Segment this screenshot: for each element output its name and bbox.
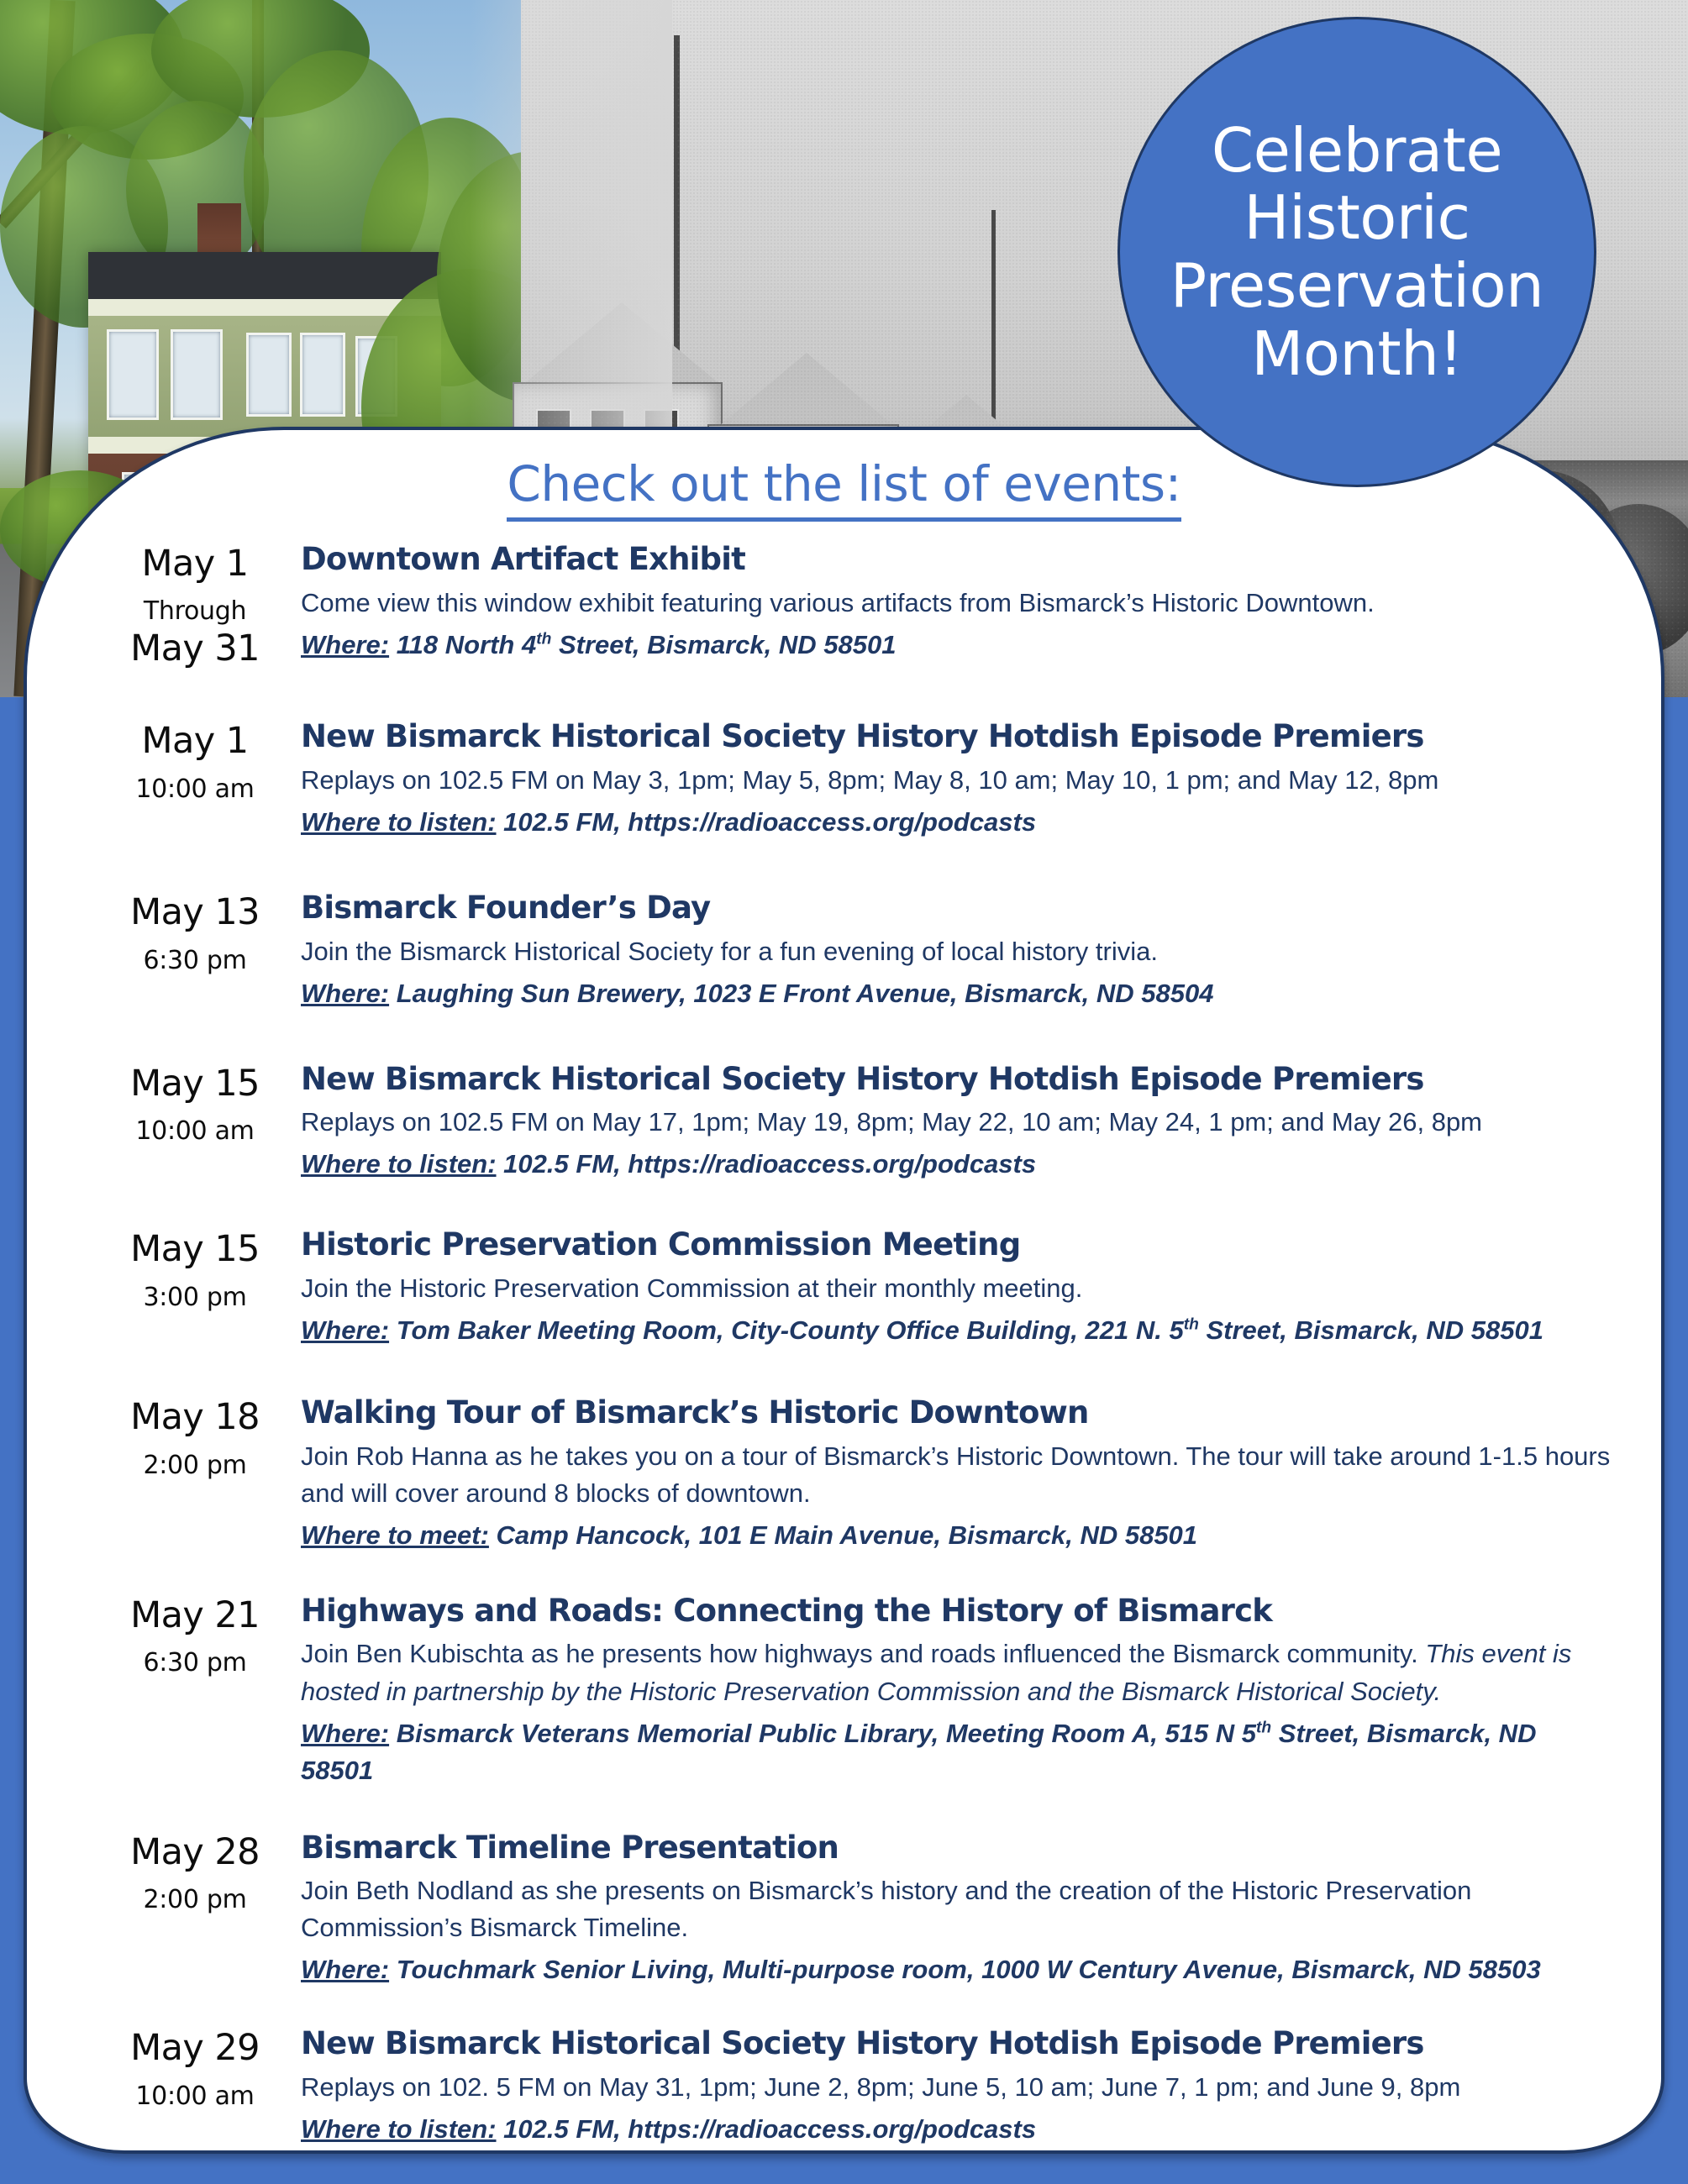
- event-location-label: Where:: [301, 630, 389, 659]
- event-date: May 1 Through May 31: [96, 541, 294, 668]
- event-description: Come view this window exhibit featuring …: [301, 585, 1614, 622]
- event-date-start: May 15: [96, 1230, 294, 1268]
- event-row: May 13 6:30 pm Bismarck Founder’s Day Jo…: [96, 890, 1614, 1012]
- badge-line-4: Month!: [1251, 320, 1463, 388]
- event-time: 2:00 pm: [96, 1883, 294, 1918]
- event-location-label: Where to listen:: [301, 807, 497, 837]
- event-location: Where: 118 North 4th Street, Bismarck, N…: [301, 627, 1614, 664]
- event-date-start: May 29: [96, 2029, 294, 2067]
- event-location-value-pre: Camp Hancock, 101 E Main Avenue, Bismarc…: [489, 1520, 1197, 1550]
- badge-line-3: Preservation: [1170, 252, 1544, 320]
- event-location: Where to meet: Camp Hancock, 101 E Main …: [301, 1517, 1614, 1554]
- events-panel: Check out the list of events: May 1 Thro…: [24, 427, 1664, 2154]
- event-body: Bismarck Founder’s Day Join the Bismarck…: [294, 890, 1614, 1012]
- event-date: May 15 10:00 am: [96, 1061, 294, 1149]
- event-body: Historic Preservation Commission Meeting…: [294, 1226, 1614, 1349]
- event-location-value-pre: Laughing Sun Brewery, 1023 E Front Avenu…: [389, 979, 1213, 1008]
- event-description: Join Beth Nodland as she presents on Bis…: [301, 1872, 1614, 1946]
- event-body: New Bismarck Historical Society History …: [294, 718, 1614, 841]
- event-title: New Bismarck Historical Society History …: [301, 2025, 1614, 2062]
- event-date-start: May 13: [96, 893, 294, 932]
- event-location-value-pre: 102.5 FM, https://radioaccess.org/podcas…: [497, 1149, 1037, 1179]
- poster-page: Celebrate Historic Preservation Month! C…: [0, 0, 1688, 2184]
- event-time: 3:00 pm: [96, 1281, 294, 1315]
- event-date-start: May 18: [96, 1398, 294, 1436]
- event-location-value-pre: Touchmark Senior Living, Multi-purpose r…: [389, 1955, 1541, 1984]
- event-date-start: May 1: [96, 544, 294, 583]
- event-description: Join the Historic Preservation Commissio…: [301, 1270, 1614, 1307]
- event-row: May 18 2:00 pm Walking Tour of Bismarck’…: [96, 1394, 1614, 1554]
- event-row: May 15 10:00 am New Bismarck Historical …: [96, 1061, 1614, 1184]
- event-location-label: Where to listen:: [301, 1149, 497, 1179]
- ordinal-suffix: th: [1184, 1316, 1199, 1334]
- event-location-value-pre: 118 North 4: [389, 630, 536, 659]
- event-description: Join Ben Kubischta as he presents how hi…: [301, 1635, 1614, 1709]
- badge-line-2: Historic: [1244, 184, 1470, 252]
- event-title: New Bismarck Historical Society History …: [301, 1061, 1614, 1098]
- event-date-connector: Through: [96, 595, 294, 629]
- event-row: May 29 10:00 am New Bismarck Historical …: [96, 2025, 1614, 2148]
- event-body: Downtown Artifact Exhibit Come view this…: [294, 541, 1614, 664]
- ordinal-suffix: th: [536, 630, 551, 648]
- event-description: Replays on 102.5 FM on May 17, 1pm; May …: [301, 1104, 1614, 1141]
- event-time: 10:00 am: [96, 2080, 294, 2114]
- event-row: May 21 6:30 pm Highways and Roads: Conne…: [96, 1593, 1614, 1789]
- event-location-label: Where:: [301, 1315, 389, 1345]
- event-list: May 1 Through May 31 Downtown Artifact E…: [60, 541, 1628, 2148]
- page-title-text: Check out the list of events:: [507, 455, 1181, 522]
- event-title: Downtown Artifact Exhibit: [301, 541, 1614, 578]
- event-time: 10:00 am: [96, 1115, 294, 1149]
- event-row: May 15 3:00 pm Historic Preservation Com…: [96, 1226, 1614, 1349]
- event-body: New Bismarck Historical Society History …: [294, 1061, 1614, 1184]
- event-time: 6:30 pm: [96, 1646, 294, 1681]
- event-location: Where: Tom Baker Meeting Room, City-Coun…: [301, 1312, 1614, 1349]
- event-title: Bismarck Timeline Presentation: [301, 1830, 1614, 1866]
- event-location: Where to listen: 102.5 FM, https://radio…: [301, 2111, 1614, 2148]
- event-title: New Bismarck Historical Society History …: [301, 718, 1614, 755]
- event-date: May 18 2:00 pm: [96, 1394, 294, 1483]
- event-title: Walking Tour of Bismarck’s Historic Down…: [301, 1394, 1614, 1431]
- event-location-value-post: Street, Bismarck, ND 58501: [1199, 1315, 1543, 1345]
- event-location-label: Where:: [301, 979, 389, 1008]
- event-date-start: May 21: [96, 1596, 294, 1635]
- event-location: Where: Bismarck Veterans Memorial Public…: [301, 1715, 1614, 1789]
- event-time: 2:00 pm: [96, 1449, 294, 1483]
- event-date: May 21 6:30 pm: [96, 1593, 294, 1681]
- event-location-value-pre: Tom Baker Meeting Room, City-County Offi…: [389, 1315, 1184, 1345]
- celebrate-badge: Celebrate Historic Preservation Month!: [1117, 17, 1596, 487]
- ordinal-suffix: th: [1256, 1719, 1271, 1736]
- event-location: Where: Touchmark Senior Living, Multi-pu…: [301, 1951, 1614, 1988]
- event-location-value-pre: Bismarck Veterans Memorial Public Librar…: [389, 1719, 1256, 1748]
- event-date: May 29 10:00 am: [96, 2025, 294, 2113]
- event-title: Historic Preservation Commission Meeting: [301, 1226, 1614, 1263]
- event-description: Join the Bismarck Historical Society for…: [301, 933, 1614, 970]
- event-title: Bismarck Founder’s Day: [301, 890, 1614, 927]
- event-body: New Bismarck Historical Society History …: [294, 2025, 1614, 2148]
- event-date-start: May 15: [96, 1064, 294, 1103]
- badge-line-1: Celebrate: [1212, 117, 1502, 185]
- event-description-plain: Join Ben Kubischta as he presents how hi…: [301, 1639, 1425, 1668]
- event-date: May 13 6:30 pm: [96, 890, 294, 978]
- event-location-label: Where:: [301, 1955, 389, 1984]
- event-row: May 1 10:00 am New Bismarck Historical S…: [96, 718, 1614, 841]
- event-date-start: May 1: [96, 722, 294, 760]
- event-date: May 15 3:00 pm: [96, 1226, 294, 1315]
- event-location: Where to listen: 102.5 FM, https://radio…: [301, 1146, 1614, 1183]
- event-body: Bismarck Timeline Presentation Join Beth…: [294, 1830, 1614, 1989]
- event-body: Highways and Roads: Connecting the Histo…: [294, 1593, 1614, 1789]
- event-location: Where: Laughing Sun Brewery, 1023 E Fron…: [301, 975, 1614, 1012]
- event-row: May 28 2:00 pm Bismarck Timeline Present…: [96, 1830, 1614, 1989]
- event-date: May 1 10:00 am: [96, 718, 294, 806]
- event-location: Where to listen: 102.5 FM, https://radio…: [301, 804, 1614, 841]
- event-time: 6:30 pm: [96, 944, 294, 979]
- event-location-label: Where to meet:: [301, 1520, 489, 1550]
- event-date-end: May 31: [96, 629, 294, 668]
- event-date: May 28 2:00 pm: [96, 1830, 294, 1918]
- event-location-label: Where:: [301, 1719, 389, 1748]
- event-body: Walking Tour of Bismarck’s Historic Down…: [294, 1394, 1614, 1554]
- event-date-start: May 28: [96, 1833, 294, 1872]
- event-description: Replays on 102.5 FM on May 3, 1pm; May 5…: [301, 762, 1614, 799]
- event-description: Join Rob Hanna as he takes you on a tour…: [301, 1438, 1614, 1512]
- event-description: Replays on 102. 5 FM on May 31, 1pm; Jun…: [301, 2069, 1614, 2106]
- event-location-value-pre: 102.5 FM, https://radioaccess.org/podcas…: [497, 2114, 1037, 2144]
- event-row: May 1 Through May 31 Downtown Artifact E…: [96, 541, 1614, 668]
- event-location-value-post: Street, Bismarck, ND 58501: [551, 630, 896, 659]
- event-time: 10:00 am: [96, 773, 294, 807]
- event-title: Highways and Roads: Connecting the Histo…: [301, 1593, 1614, 1630]
- event-location-label: Where to listen:: [301, 2114, 497, 2144]
- event-location-value-pre: 102.5 FM, https://radioaccess.org/podcas…: [497, 807, 1037, 837]
